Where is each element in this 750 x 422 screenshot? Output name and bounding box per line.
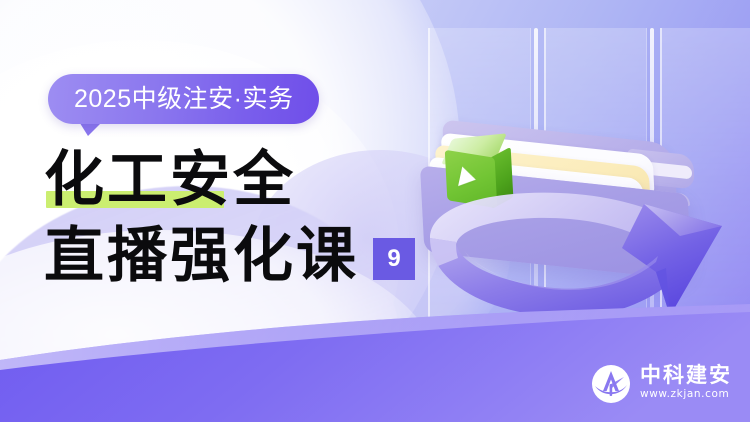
brand-logo-words: 中科建安 www.zkjan.com [640,365,732,403]
headline-row-1: 化工安全 [44,150,464,210]
tagline-text: 2025中级注安·实务 [74,87,293,112]
headline-row-2: 直播强化课 9 [44,226,464,286]
bottom-swoosh-band [0,302,750,422]
page-title: 化工安全 [44,150,296,210]
page-subtitle: 直播强化课 [44,226,359,286]
zk-circle-monogram-icon [591,364,631,404]
brand-name: 中科建安 [640,365,732,387]
course-banner: 2025中级注安·实务 化工安全 直播强化课 9 中科建安 www.zkjan.… [0,0,750,422]
episode-badge: 9 [373,238,415,280]
brand-url: www.zkjan.com [640,387,732,403]
brand-logo: 中科建安 www.zkjan.com [591,364,732,404]
headline-block: 化工安全 直播强化课 9 [44,150,464,286]
tagline-pill: 2025中级注安·实务 [48,74,319,124]
